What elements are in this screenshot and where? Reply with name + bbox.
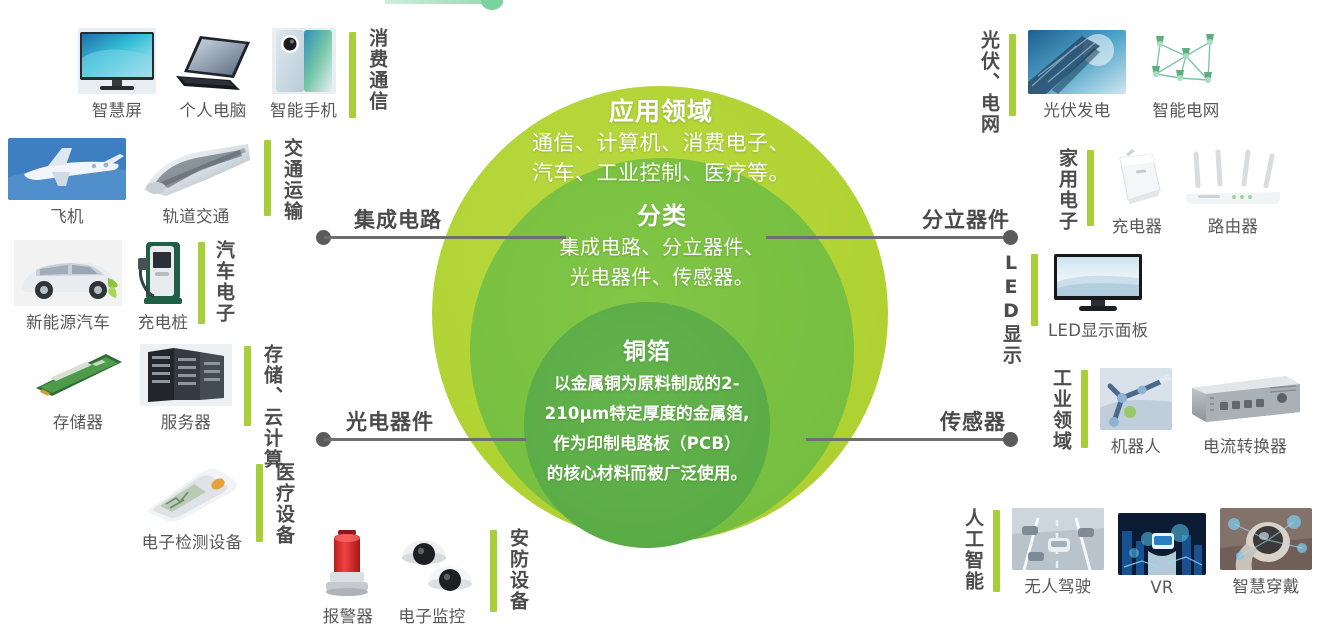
list-item-label: 智能电网 [1152,97,1219,121]
group-transportation[interactable]: 飞机 轨道交通 交通运输 [8,138,302,227]
list-item-label: 新能源汽车 [26,309,110,333]
list-item[interactable]: 电子检测设备 [140,462,244,553]
group-label-artificial-intelligence: 人工智能 [962,508,983,598]
group-items-ai: 无人驾驶 [1012,508,1312,597]
list-item[interactable]: LED显示面板 [1048,252,1148,341]
group-industrial-field[interactable]: 工业领域 机器人 [1050,368,1304,457]
list-item-label: 服务器 [161,409,211,433]
list-item-label: 无人驾驶 [1024,573,1091,597]
group-items-security: 报警器 电子监控 [320,528,480,627]
classification-line-2: 光电器件、传感器。 [486,262,838,292]
connector-label-integrated-circuit: 集成电路 [354,204,442,234]
group-accent-bar [264,140,271,216]
group-label-photovoltaic-grid: 光伏、电网 [978,30,999,122]
group-label-consumer-communication: 消费通信 [366,28,387,120]
list-item[interactable]: 飞机 [8,138,126,227]
group-items-led: LED显示面板 [1048,252,1148,341]
group-label-storage-cloud-computing: 存储、云计算 [261,344,282,440]
copper-foil-title: 铜箔 [528,336,766,369]
list-item-label: 飞机 [50,203,84,227]
list-item-label: 路由器 [1208,213,1258,237]
new-energy-vehicle-icon [14,240,122,306]
robot-arm-icon [1100,368,1172,430]
list-item[interactable]: 电流转换器 [1186,368,1304,457]
connector-label-optoelectronic: 光电器件 [346,406,434,436]
list-item[interactable]: 智慧屏 [78,28,156,121]
list-item-label: 电子检测设备 [142,529,243,553]
group-accent-bar [256,464,263,542]
group-items-consumer: 智慧屏 个人电脑 [78,28,337,121]
list-item[interactable]: 光伏发电 [1028,30,1126,121]
list-item[interactable]: 充电桩 [136,240,190,333]
list-item[interactable]: 无人驾驶 [1012,508,1104,597]
list-item[interactable]: 路由器 [1182,148,1284,237]
connector-sensor[interactable]: 传感器 [806,410,1018,450]
connector-discrete-device[interactable]: 分立器件 [766,208,1018,248]
cctv-camera-icon [384,528,480,600]
alarm-siren-icon [320,528,376,600]
group-label-industrial-field: 工业领域 [1050,368,1071,454]
laptop-icon [170,28,256,94]
list-item-label: 个人电脑 [179,97,246,121]
smart-screen-icon [78,28,156,94]
group-accent-bar [1087,150,1094,226]
solar-panel-icon [1028,30,1126,94]
connector-optoelectronic[interactable]: 光电器件 [316,410,526,450]
list-item-label: 智能手机 [270,97,337,121]
list-item[interactable]: 个人电脑 [170,28,256,121]
group-items-medical: 电子检测设备 [140,462,244,553]
list-item-label: LED显示面板 [1048,317,1148,341]
led-monitor-icon [1051,252,1145,314]
group-accent-bar [244,346,251,426]
group-label-automotive-electronics: 汽车电子 [213,240,234,330]
group-led-display[interactable]: LED显示 LED显示面板 [1000,252,1148,341]
list-item-label: 智慧穿戴 [1232,573,1299,597]
connector-label-discrete-device: 分立器件 [922,204,1010,234]
group-label-home-electronics: 家用电子 [1056,148,1077,232]
connector-label-sensor: 传感器 [940,406,1006,436]
application-domain-title: 应用领域 [466,96,856,128]
group-security-equipment[interactable]: 报警器 电子监控 [320,528,528,627]
vr-icon [1118,513,1206,575]
high-speed-train-icon [140,138,252,200]
application-domain-line-1: 通信、计算机、消费电子、 [466,128,856,158]
group-items-storage: 存储器 [30,344,232,433]
list-item-label: 电子监控 [398,603,465,627]
autonomous-driving-icon [1012,508,1104,570]
group-label-transportation: 交通运输 [281,138,302,222]
group-items-automotive: 新能源汽车 充电桩 [14,240,190,333]
group-label-medical-equipment: 医疗设备 [273,462,294,548]
connector-line-discrete-device [766,236,1010,239]
current-converter-icon [1186,368,1304,430]
group-medical-equipment[interactable]: 电子检测设备 医疗设备 [140,462,294,553]
list-item-label: VR [1150,578,1173,597]
list-item-label: 机器人 [1111,433,1161,457]
list-item-label: 轨道交通 [162,203,229,227]
connector-line-optoelectronic [324,438,526,441]
list-item[interactable]: 电子监控 [384,528,480,627]
airplane-icon [8,138,126,200]
group-storage-cloud-computing[interactable]: 存储器 [30,344,282,440]
memory-module-icon [30,344,126,406]
group-items-transportation: 飞机 轨道交通 [8,138,252,227]
infographic-canvas: 应用领域 通信、计算机、消费电子、 汽车、工业控制、医疗等。 分类 集成电路、分… [0,0,1329,634]
list-item-label: 智慧屏 [92,97,142,121]
smartphone-icon [272,28,336,94]
group-photovoltaic-grid[interactable]: 光伏、电网 [978,30,1232,122]
group-consumer-communication[interactable]: 智慧屏 个人电脑 [78,28,387,121]
list-item-label: 充电桩 [138,309,188,333]
copper-foil-line-4: 的核心材料而被广泛使用。 [528,459,766,489]
copper-foil-line-2: 210μm特定厚度的金属箔, [528,399,766,429]
list-item[interactable]: 新能源汽车 [14,240,122,333]
group-label-led-display: LED显示 [1000,252,1021,332]
group-automotive-electronics[interactable]: 新能源汽车 充电桩 汽车电子 [14,240,234,333]
list-item[interactable]: VR [1118,513,1206,597]
group-accent-bar [1081,370,1088,448]
list-item[interactable]: 充电器 [1106,148,1168,237]
application-domain-line-2: 汽车、工业控制、医疗等。 [466,158,856,188]
smart-grid-icon [1140,30,1232,94]
server-rack-icon [140,344,232,406]
copper-foil-line-1: 以金属铜为原料制成的2- [528,369,766,399]
group-items-industry: 机器人 [1100,368,1304,457]
group-accent-bar [490,530,497,612]
list-item-label: 存储器 [53,409,103,433]
list-item-label: 电流转换器 [1203,433,1287,457]
connector-dot-sensor [1003,432,1018,447]
list-item-label: 报警器 [323,603,373,627]
top-accent-dot [481,0,503,10]
router-icon [1182,148,1284,210]
group-accent-bar [349,32,356,118]
list-item-label: 充电器 [1112,213,1162,237]
connector-dot-discrete-device [1003,230,1018,245]
list-item[interactable]: 报警器 [320,528,376,627]
list-item[interactable]: 机器人 [1100,368,1172,457]
list-item[interactable]: 智能电网 [1140,30,1232,121]
group-items-home: 充电器 路由器 [1106,148,1284,237]
group-artificial-intelligence[interactable]: 人工智能 [962,508,1312,598]
connector-line-integrated-circuit [324,236,566,239]
smart-wearable-icon [1220,508,1312,570]
group-accent-bar [198,242,205,324]
connector-integrated-circuit[interactable]: 集成电路 [316,208,566,248]
list-item[interactable]: 存储器 [30,344,126,433]
copper-foil-text: 铜箔 以金属铜为原料制成的2- 210μm特定厚度的金属箔, 作为印制电路板（P… [528,336,766,489]
copper-foil-line-3: 作为印制电路板（PCB） [528,429,766,459]
list-item-label: 光伏发电 [1043,97,1110,121]
list-item[interactable]: 智能手机 [270,28,337,121]
group-items-photovoltaic: 光伏发电 [1028,30,1232,121]
list-item[interactable]: 服务器 [140,344,232,433]
charging-pile-icon [136,240,190,306]
charger-adapter-icon [1106,148,1168,210]
group-accent-bar [993,510,1000,592]
medical-detector-icon [140,462,244,526]
group-home-electronics[interactable]: 家用电子 充电器 [1056,148,1284,237]
list-item[interactable]: 智慧穿戴 [1220,508,1312,597]
group-label-security-equipment: 安防设备 [507,528,528,620]
group-accent-bar [1009,34,1016,116]
list-item[interactable]: 轨道交通 [140,138,252,227]
group-accent-bar [1031,254,1038,326]
application-domain-text: 应用领域 通信、计算机、消费电子、 汽车、工业控制、医疗等。 [466,96,856,188]
connector-line-sensor [806,438,1010,441]
